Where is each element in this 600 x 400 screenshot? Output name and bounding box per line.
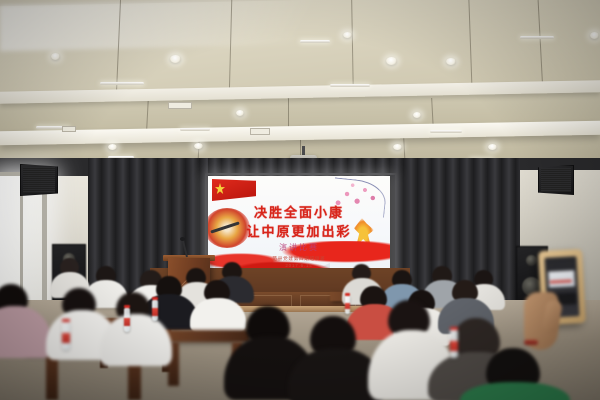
- speaker-tweeter-icon: [526, 255, 537, 266]
- bracelet: [524, 340, 538, 345]
- downlight-icon: [343, 32, 352, 38]
- smartphone-live-preview: [548, 270, 575, 287]
- air-diffuser: [168, 102, 192, 109]
- downlight-icon: [446, 58, 456, 65]
- linear-light-fixture: [330, 84, 370, 87]
- bottle-label: [345, 303, 350, 309]
- downlight-icon: [590, 32, 599, 39]
- bottle-label: [450, 341, 458, 351]
- bottle-label: [152, 308, 158, 315]
- linear-light-fixture: [300, 40, 330, 43]
- downlight-icon: [386, 57, 397, 65]
- bottle-cap: [450, 327, 458, 330]
- downlight-icon: [488, 144, 497, 150]
- slide-subtitle: 演讲比赛: [208, 242, 390, 253]
- linear-light-fixture: [430, 130, 462, 133]
- bottle-label: [124, 318, 130, 326]
- bottle-label: [62, 333, 70, 343]
- water-bottle[interactable]: [450, 330, 458, 358]
- linear-light-fixture: [100, 82, 144, 85]
- air-diffuser: [62, 126, 76, 132]
- downlight-icon: [236, 110, 244, 116]
- downlight-icon: [194, 143, 203, 149]
- ceiling: [0, 0, 600, 168]
- water-bottle[interactable]: [152, 300, 158, 321]
- conference-hall-photo: 决胜全面小康 让中原更加出彩 演讲比赛 范县党建第四期培训班 2017.6.14: [0, 0, 600, 400]
- downlight-icon: [413, 112, 421, 118]
- downlight-icon: [393, 144, 402, 150]
- preview-red-banner: [550, 279, 572, 283]
- bottle-cap: [152, 297, 158, 300]
- downlight-icon: [108, 144, 117, 150]
- speaker-grille: [23, 167, 55, 193]
- water-bottle[interactable]: [345, 296, 350, 314]
- slide-organizer: 范县党建第四期培训班: [208, 256, 390, 262]
- bottle-cap: [345, 293, 350, 296]
- slide-title-line-1: 决胜全面小康: [208, 202, 390, 221]
- slide-title-line-2: 让中原更加出彩: [208, 221, 390, 240]
- wall-speaker-left: [20, 164, 58, 196]
- speaker-grille: [541, 168, 571, 192]
- linear-light-fixture: [520, 36, 554, 39]
- water-bottle[interactable]: [124, 308, 130, 332]
- party-flag-icon: [212, 179, 256, 201]
- bottle-cap: [124, 305, 130, 308]
- hammer-sickle-emblem-icon: [215, 183, 225, 194]
- air-diffuser: [250, 128, 270, 135]
- downlight-icon: [170, 55, 181, 63]
- wall-speaker-right: [538, 165, 574, 195]
- bottle-cap: [62, 319, 70, 322]
- water-bottle[interactable]: [62, 322, 70, 350]
- desk-leg: [46, 354, 58, 400]
- downlight-icon: [51, 53, 60, 60]
- microphone-icon: [180, 237, 185, 241]
- linear-light-fixture: [180, 128, 210, 131]
